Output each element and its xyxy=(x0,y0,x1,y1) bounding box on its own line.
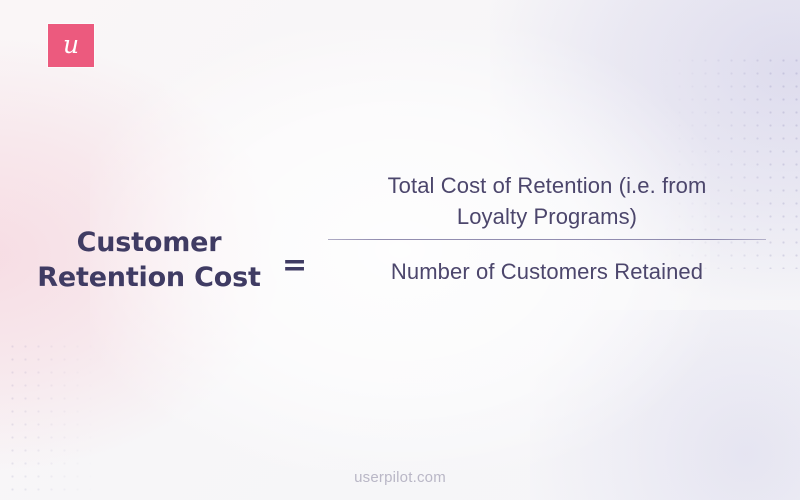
footer-website-url: userpilot.com xyxy=(0,468,800,488)
formula-numerator: Total Cost of Retention (i.e. from Loyal… xyxy=(328,170,766,232)
formula-numerator-line1: Total Cost of Retention (i.e. from xyxy=(328,170,766,201)
formula-left-side-line1: Customer xyxy=(77,227,222,258)
formula-numerator-line2: Loyalty Programs) xyxy=(328,201,766,232)
infographic-canvas: u Customer Retention Cost = Total Cost o… xyxy=(0,0,800,500)
formula-denominator: Number of Customers Retained xyxy=(328,247,766,287)
formula-left-side-label: Customer Retention Cost xyxy=(34,225,264,295)
formula-block: Customer Retention Cost = Total Cost of … xyxy=(0,0,800,500)
formula-left-side-line2: Retention Cost xyxy=(34,260,264,295)
formula-equals-operator: = xyxy=(282,246,307,286)
formula-fraction: Total Cost of Retention (i.e. from Loyal… xyxy=(328,170,766,287)
formula-fraction-bar xyxy=(328,239,766,240)
